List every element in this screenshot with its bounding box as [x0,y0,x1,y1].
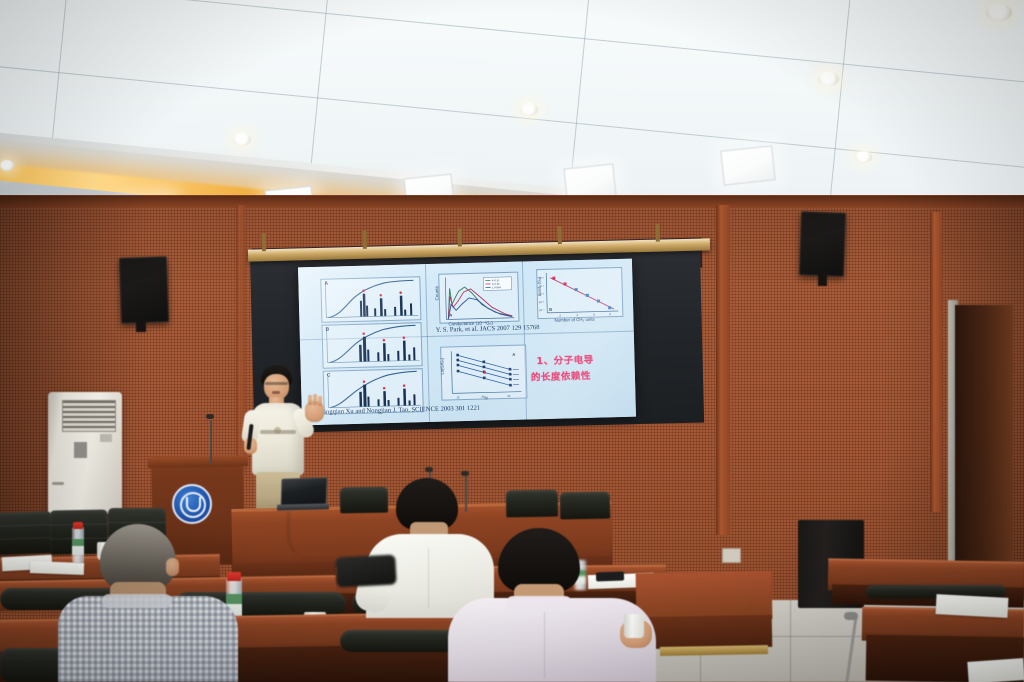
axis-label-n: N [484,395,487,400]
svg-text:B: B [549,307,552,312]
audience-chair [0,511,53,555]
projection-screen: A [298,259,636,426]
downlight-icon [233,133,251,146]
attendee-hair-grey [100,524,176,590]
svg-text:10: 10 [456,395,460,399]
presenter-finger [308,395,312,405]
university-emblem [172,484,212,524]
right-desk-paper [967,658,1024,682]
svg-text:10⁻⁶: 10⁻⁶ [539,300,544,304]
wall-pilaster [716,205,730,535]
panel-label-a: A [324,281,328,287]
axis-label-lng: Ln(G/G₀) [439,358,444,375]
presenter-finger [313,394,317,405]
laptop-cable [288,512,331,558]
black-bag [335,554,396,587]
lecture-hall-photo: A [0,0,1024,682]
presenter-mouth [272,391,280,394]
attendee-shirt-seam [544,612,545,678]
slide-lng-chart: A 102030 Ln(G/G₀) N [440,344,527,400]
attendee-ear [166,558,179,576]
slide-decay-chart: 10⁻³10⁻⁴ 10⁻⁵10⁻⁶ 10⁻⁷ 24 68 B Cond. (G₀… [536,267,623,319]
wall-pilaster [930,212,942,512]
audience-member-grey-hair [58,524,238,682]
right-desk-paper [936,594,1009,618]
mic-stand-base-right [844,612,858,620]
axis-label-cond: Cond. (G₀) [536,277,542,296]
svg-text:A: A [449,312,452,317]
svg-text:1,4-Ben: 1,4-Ben [492,285,502,289]
downlight-icon [0,160,14,171]
slide-heading-line2: 的长度依赖性 [531,368,591,384]
attendee-hair-dark [498,528,580,592]
podium-microphone [204,412,218,462]
axis-label-counts: Counts [434,286,439,300]
air-conditioner [48,392,122,514]
svg-text:10⁻⁷: 10⁻⁷ [539,308,544,312]
downlight-icon [520,103,538,116]
downlight-icon [986,4,1012,21]
presenter-shirt-logo [274,427,281,434]
wall-speaker-right [799,211,846,277]
svg-text:30: 30 [507,394,511,398]
decay-chart: 10⁻³10⁻⁴ 10⁻⁵10⁻⁶ 10⁻⁷ 24 68 B [537,268,622,318]
stage-step-trim [660,645,768,656]
axis-label-ch2: Number of CH₂ units [554,317,594,323]
audience-member-lavender-shirt [442,528,662,682]
slide-heading-line1: 1、分子电导 [536,352,593,367]
speaker-mount [818,270,827,286]
attendee-cup [624,614,644,638]
downlight-icon [818,72,839,86]
presenter-glasses [265,382,288,385]
attendee-collar [102,594,172,608]
wall-top-trim [0,196,1024,208]
stage-chair [560,492,610,520]
downlight-icon [855,151,872,163]
attendee-collar [506,596,572,610]
panel-light-icon [720,145,775,185]
wall-speaker-left [119,256,169,324]
svg-text:8: 8 [609,312,611,316]
presenter-finger [318,396,322,406]
wall-socket [722,548,741,563]
conductance-curves: 4,4'-B 4,4'-Bi 1,4-Ben A [439,273,518,323]
lng-chart: A 102030 [441,345,526,399]
slide-panel-a: A [320,276,421,323]
speaker-mount [136,318,146,332]
attendee-shirt-checkered [58,596,238,682]
panel-a-chart [321,277,420,322]
attendee-shirt-seam [428,548,429,608]
slide-conductance-chart: 4,4'-B 4,4'-Bi 1,4-Ben A Counts Conducta… [438,272,519,324]
svg-text:A: A [512,352,515,357]
panel-label-b: B [326,327,330,333]
stage-chair [506,490,558,518]
